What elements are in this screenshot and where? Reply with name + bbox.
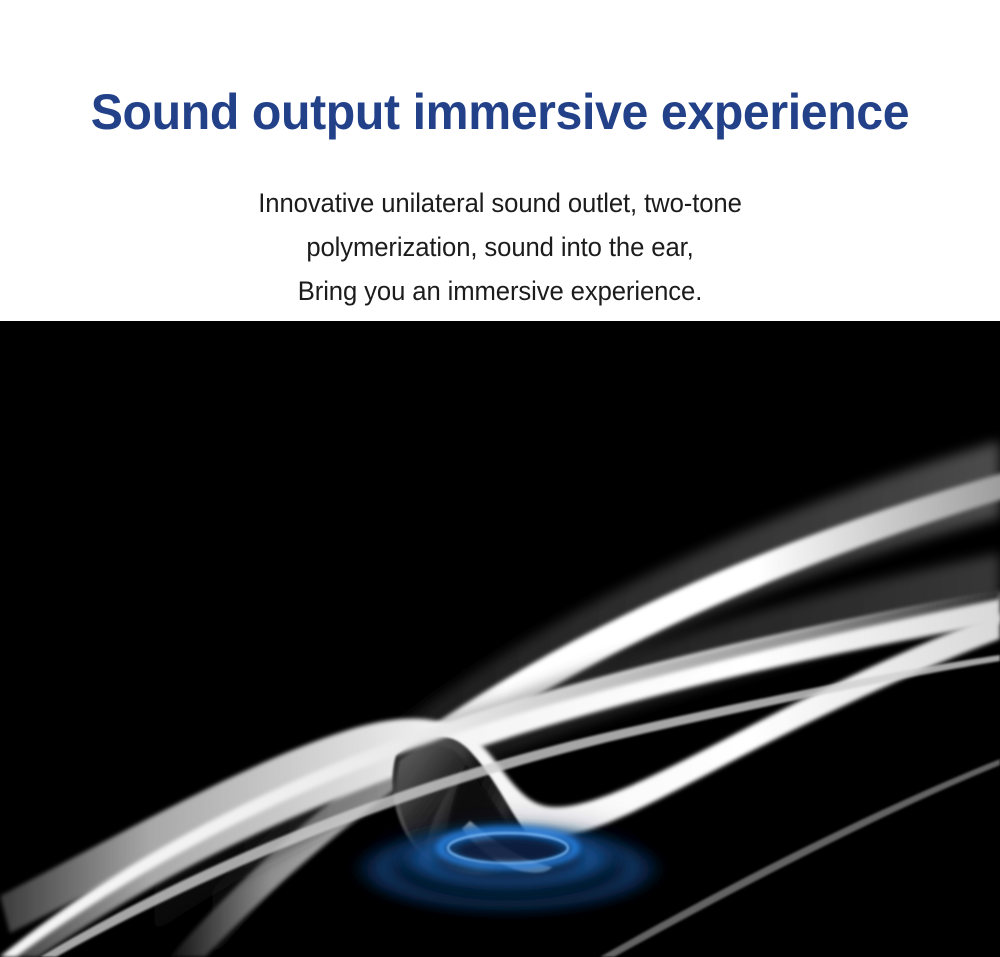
subtitle-line-2: polymerization, sound into the ear, (25, 225, 975, 269)
page-title: Sound output immersive experience (18, 84, 983, 140)
earphone-illustration (0, 321, 1000, 957)
subtitle-line-3: Bring you an immersive experience. (25, 269, 975, 313)
page-subtitle: Innovative unilateral sound outlet, two-… (0, 181, 1000, 313)
product-hero-image (0, 321, 1000, 957)
headline-section: Sound output immersive experience Innova… (0, 0, 1000, 321)
product-detail-page: Sound output immersive experience Innova… (0, 0, 1000, 957)
subtitle-line-1: Innovative unilateral sound outlet, two-… (25, 181, 975, 225)
